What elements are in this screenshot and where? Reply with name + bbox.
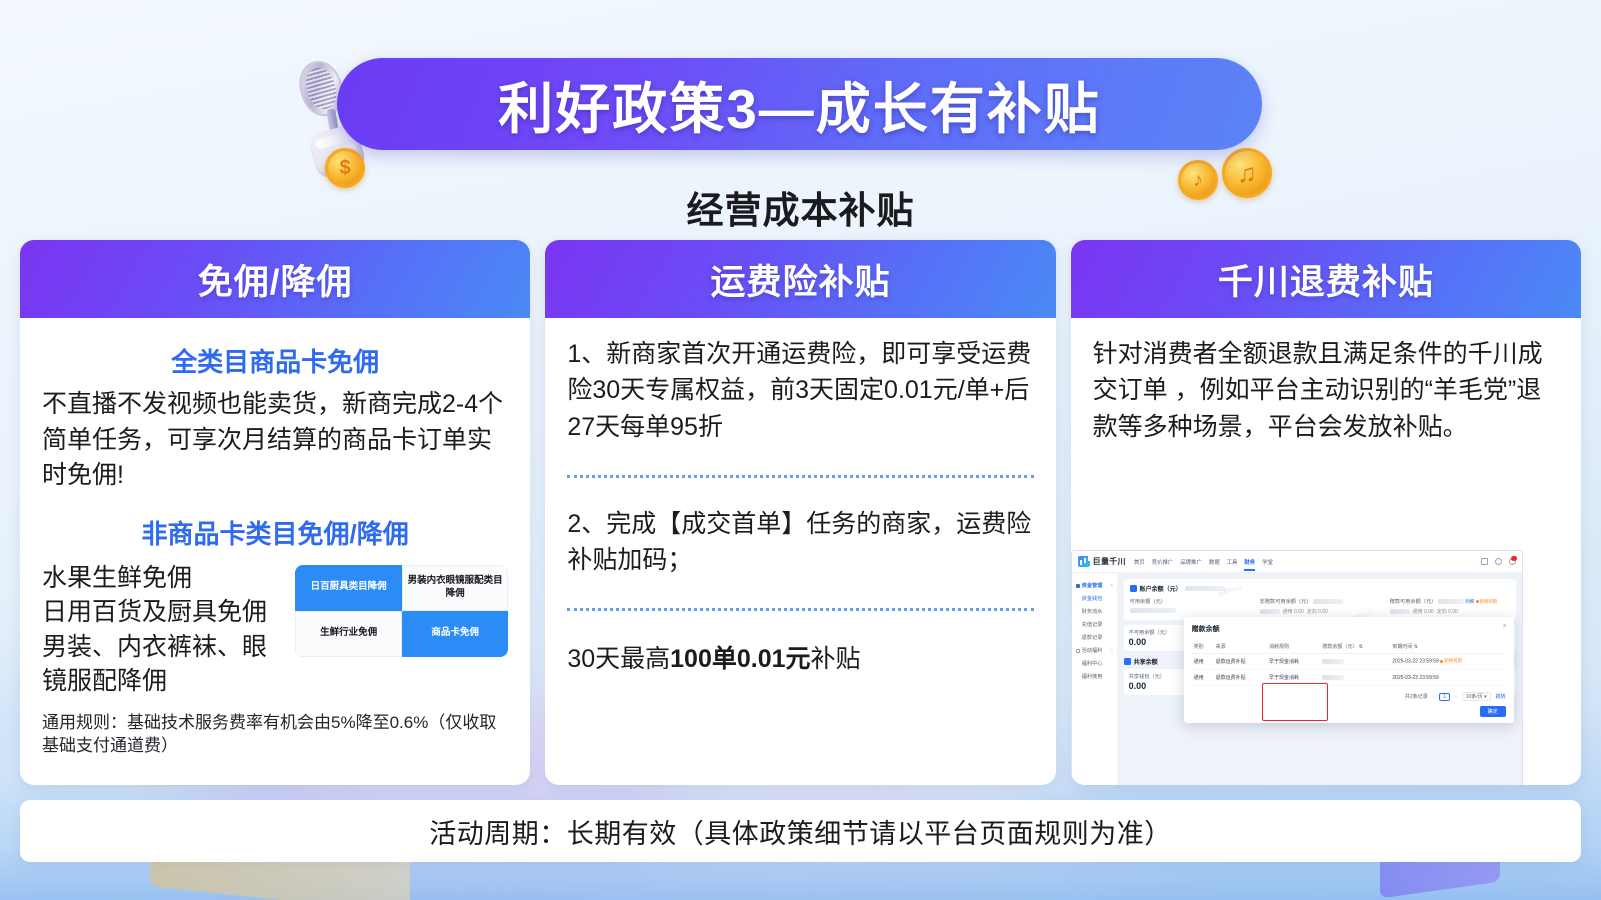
highlight-suffix: 补贴 <box>811 645 861 673</box>
pagination-prev[interactable]: ‹ <box>1433 694 1435 700</box>
header-region: ♪ $ ♪ ♫ 利好政策3—成长有补贴 <box>0 28 1601 153</box>
card-title: 千川退费补贴 <box>1218 254 1434 305</box>
pagination-page-1[interactable]: 1 <box>1439 693 1450 701</box>
section-heading-non-card: 非商品卡类目免佣/降佣 <box>42 514 508 551</box>
cell-source: 退款运费补贴 <box>1214 654 1267 670</box>
col-amount[interactable]: 赠款余额（元） ⇅ <box>1320 640 1390 654</box>
sidebar-label: 福利中心 <box>1082 660 1103 667</box>
category-list: 水果生鲜免佣 日用百货及厨具免佣 男装、内衣裤袜、眼镜服配降佣 <box>42 561 289 699</box>
sidebar-label: 资金管理 <box>1082 582 1103 589</box>
divider-dotted <box>567 475 1033 478</box>
share-icon <box>1124 658 1131 665</box>
nav-item-tools[interactable]: 工具 <box>1227 558 1238 566</box>
sidebar-item-fund-wallet[interactable]: 资金钱包 <box>1072 592 1117 605</box>
balance-sub-targeted: 定向 0.00 <box>1437 608 1458 615</box>
col-category: 类别 <box>1192 640 1214 654</box>
panel-title-text: 账户余额（元） <box>1140 584 1182 593</box>
general-rule-note: 通用规则：基础技术服务费率有机会由5%降至0.6%（仅收取基础支付通道费） <box>42 711 508 759</box>
matrix-cell-fresh-produce[interactable]: 生鲜行业免佣 <box>295 611 402 657</box>
sidebar-label: 退款记录 <box>1082 634 1103 641</box>
logo-mark-icon <box>1078 556 1090 567</box>
col-rule: 消耗规则 <box>1267 640 1320 654</box>
cell-expire: 2025-03-23 23:59:59 <box>1390 670 1505 686</box>
detail-link[interactable]: 明细 <box>1465 599 1474 604</box>
matrix-cell-product-card[interactable]: 商品卡免佣 <box>402 611 509 657</box>
sidebar-label: 活动福利 <box>1082 647 1103 654</box>
shipping-highlight: 30天最高100单0.01元补贴 <box>567 639 1033 675</box>
nav-item-brand[interactable]: 品牌推广 <box>1180 558 1202 566</box>
sidebar-item-activity-benefits[interactable]: 活动福利^ <box>1072 644 1117 657</box>
balance-label: 可用余额（元） <box>1130 598 1250 605</box>
balance-label: 赠款可用余额（元） 明细 即将到期 <box>1390 598 1510 605</box>
qianchuan-logo: 巨量千川 <box>1078 556 1126 567</box>
dialog-title: 赠款余额 <box>1192 624 1506 634</box>
sidebar-label: 充值记录 <box>1082 621 1103 628</box>
account-panel-title: 账户余额（元） <box>1130 584 1510 593</box>
matrix-cell-menswear-eyewear[interactable]: 男装内衣眼镜服配类目降佣 <box>402 565 509 611</box>
card-shipping-insurance: 运费险补贴 1、新商家首次开通运费险，即可享受运费险30天专属权益，前3天固定0… <box>545 240 1055 785</box>
brand-name: 巨量千川 <box>1093 556 1126 567</box>
balance-sub-targeted: 定向 0.00 <box>1307 608 1328 615</box>
col-expire[interactable]: 到期时间 ⇅ <box>1390 640 1505 654</box>
card-title: 免佣/降佣 <box>198 254 353 305</box>
card-title: 运费险补贴 <box>710 254 890 305</box>
cell-rule: 早于现金消耗 <box>1267 654 1320 670</box>
balance-sub-general: 通用 0.00 <box>1413 608 1434 615</box>
policy-cards: 免佣/降佣 全类目商品卡免佣 不直播不发视频也能卖货，新商完成2-4个简单任务，… <box>20 240 1581 785</box>
card-qianchuan-refund: 千川退费补贴 针对消费者全额退款且满足条件的千川成交订单 ，例如平台主动识别的“… <box>1071 240 1581 785</box>
screenshot-navbar: 巨量千川 首页 竞价推广 品牌推广 数据 工具 财务 学堂 <box>1072 551 1522 573</box>
page-subtitle: 经营成本补贴 <box>0 180 1601 234</box>
row-status-badge: 即将到期 <box>1440 658 1462 664</box>
sidebar-label: 资金钱包 <box>1082 595 1103 602</box>
shipping-item-1: 1、新商家首次开通运费险，即可享受运费险30天专属权益，前3天固定0.01元/单… <box>567 336 1033 445</box>
cell-source: 退款运费补贴 <box>1214 670 1267 686</box>
sidebar-label: 财务流水 <box>1082 608 1103 615</box>
notification-icon[interactable] <box>1509 558 1516 565</box>
refund-body-text: 针对消费者全额退款且满足条件的千川成交订单 ，例如平台主动识别的“羊毛党”退款等… <box>1093 336 1559 445</box>
card-commission-exemption: 免佣/降佣 全类目商品卡免佣 不直播不发视频也能卖货，新商完成2-4个简单任务，… <box>20 240 530 785</box>
confirm-button[interactable]: 确定 <box>1480 706 1506 717</box>
footer-bar: 活动周期：长期有效（具体政策细节请以平台页面规则为准） <box>20 800 1581 862</box>
divider-dotted-2 <box>567 608 1033 611</box>
nav-items: 首页 竞价推广 品牌推广 数据 工具 财务 学堂 <box>1134 558 1273 566</box>
pagination-next[interactable]: › <box>1455 694 1457 700</box>
account-balance-panel: 账户余额（元） 可用余额（元） 非赠款可用余额（元） <box>1124 579 1516 620</box>
pagination-jump[interactable]: 跳转 <box>1496 693 1506 700</box>
balance-grant: 赠款可用余额（元） 明细 即将到期 通用 0.00 定向 0.00 <box>1390 598 1510 615</box>
sidebar-item-fund-management[interactable]: 资金管理^ <box>1072 579 1117 592</box>
grant-balance-dialog: 赠款余额 × 类别 来源 消耗规则 赠款余额（元） ⇅ 到期时间 ⇅ <box>1184 617 1514 723</box>
apps-icon[interactable] <box>1481 558 1488 565</box>
pagination: 共2条记录 ‹ 1 › 10条/页 ▾ 跳转 <box>1192 692 1506 701</box>
balance-non-grant: 非赠款可用余额（元） 通用 0.00 定向 0.00 <box>1260 598 1380 615</box>
table-header-row: 类别 来源 消耗规则 赠款余额（元） ⇅ 到期时间 ⇅ <box>1192 640 1506 654</box>
screenshot-content: 账户余额（元） 可用余额（元） 非赠款可用余额（元） <box>1118 573 1522 785</box>
title-banner: 利好政策3—成长有补贴 <box>337 58 1262 150</box>
qianchuan-screenshot: 巨量千川 首页 竞价推广 品牌推广 数据 工具 财务 学堂 <box>1071 550 1523 785</box>
page-title: 利好政策3—成长有补贴 <box>498 64 1101 144</box>
share-title-text: 共享余额 <box>1134 657 1158 666</box>
pagination-total: 共2条记录 <box>1405 693 1428 700</box>
table-row: 通用 退款运费补贴 早于现金消耗 2025-03-23 23:59:59 <box>1192 670 1506 686</box>
cell-amount <box>1320 654 1390 670</box>
help-icon[interactable] <box>1495 558 1502 565</box>
expiry-warning-badge: 即将到期 <box>1476 599 1498 605</box>
sidebar-label: 福利使用 <box>1082 673 1103 680</box>
close-icon[interactable]: × <box>1503 623 1507 630</box>
cell-category: 通用 <box>1192 670 1214 686</box>
card-header: 免佣/降佣 <box>20 240 530 318</box>
category-matrix: 日百厨具类目降佣 男装内衣眼镜服配类目降佣 生鲜行业免佣 商品卡免佣 <box>295 565 508 657</box>
nav-item-data[interactable]: 数据 <box>1209 558 1220 566</box>
card-header: 千川退费补贴 <box>1071 240 1581 318</box>
footer-text: 活动周期：长期有效（具体政策细节请以平台页面规则为准） <box>429 812 1172 851</box>
nav-item-academy[interactable]: 学堂 <box>1262 558 1273 566</box>
cell-expire: 2025-03-22 23:59:59 即将到期 <box>1390 654 1505 670</box>
balance-label: 非赠款可用余额（元） <box>1260 598 1380 605</box>
highlight-prefix: 30天最高 <box>567 645 670 673</box>
page-size-select[interactable]: 10条/页 ▾ <box>1462 692 1491 701</box>
sidebar-item-benefit-center[interactable]: 福利中心 <box>1072 657 1117 670</box>
nav-item-finance[interactable]: 财务 <box>1244 558 1255 566</box>
section-heading-all-category: 全类目商品卡免佣 <box>42 342 508 379</box>
sidebar-item-refund-records[interactable]: 退款记录 <box>1072 631 1117 644</box>
balance-sub-general: 通用 0.00 <box>1283 608 1304 615</box>
table-row: 通用 退款运费补贴 早于现金消耗 2025-03-22 23:59:59 即将到… <box>1192 654 1506 670</box>
shipping-item-2: 2、完成【成交首单】任务的商家，运费险补贴加码； <box>567 506 1033 579</box>
cell-rule: 早于现金消耗 <box>1267 670 1320 686</box>
col-source: 来源 <box>1214 640 1267 654</box>
matrix-cell-daily-kitchen[interactable]: 日百厨具类目降佣 <box>295 565 402 611</box>
sidebar-item-finance-flow[interactable]: 财务流水 <box>1072 605 1117 618</box>
highlight-bold: 100单0.01元 <box>670 645 810 673</box>
nav-item-bidding[interactable]: 竞价推广 <box>1152 558 1174 566</box>
cell-category: 通用 <box>1192 654 1214 670</box>
grant-balance-table: 类别 来源 消耗规则 赠款余额（元） ⇅ 到期时间 ⇅ <box>1192 640 1506 686</box>
section-body-all-category: 不直播不发视频也能卖货，新商完成2-4个简单任务，可享次月结算的商品卡订单实时免… <box>42 387 508 494</box>
wallet-icon <box>1130 585 1137 592</box>
nav-right-icons <box>1481 558 1516 565</box>
balance-available: 可用余额（元） <box>1130 598 1250 615</box>
sidebar-item-recharge-records[interactable]: 充值记录 <box>1072 618 1117 631</box>
screenshot-sidebar: 资金管理^ 资金钱包 财务流水 充值记录 退款记录 <box>1072 573 1118 785</box>
sidebar-item-benefit-usage[interactable]: 福利使用 <box>1072 670 1117 683</box>
cell-amount <box>1320 670 1390 686</box>
nav-item-home[interactable]: 首页 <box>1134 558 1145 566</box>
card-header: 运费险补贴 <box>545 240 1055 318</box>
